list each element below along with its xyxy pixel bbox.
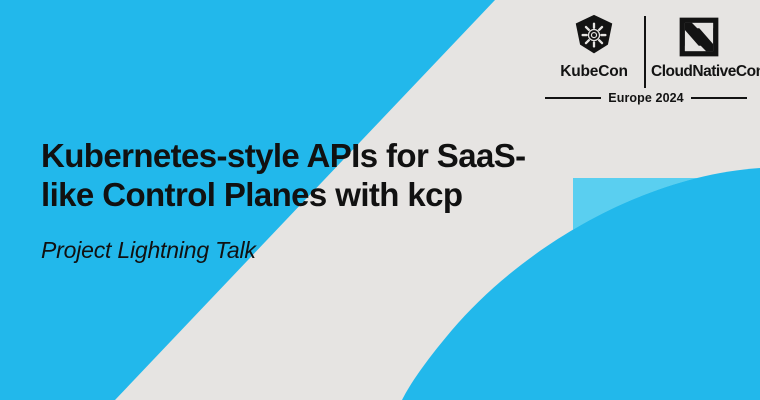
presentation-slide: KubeCon CloudNativeCon Europe 20 (0, 0, 760, 400)
edition-rule-right (691, 97, 747, 99)
kubecon-logo-block: KubeCon (549, 12, 639, 82)
kubernetes-helm-logo-icon (549, 12, 639, 62)
slide-title: Kubernetes-style APIs for SaaS-like Cont… (41, 136, 571, 214)
slide-text-block: Kubernetes-style APIs for SaaS-like Cont… (41, 136, 571, 264)
cloudnativecon-label: CloudNativeCon (651, 62, 747, 82)
conference-logo-lockup: KubeCon CloudNativeCon Europe 20 (545, 12, 747, 110)
kubecon-label: KubeCon (549, 62, 639, 82)
edition-row: Europe 2024 (545, 91, 747, 105)
edition-label: Europe 2024 (608, 91, 683, 105)
edition-rule-left (545, 97, 601, 99)
cncf-square-logo-icon (651, 12, 747, 62)
slide-subtitle: Project Lightning Talk (41, 214, 571, 264)
cloudnativecon-logo-block: CloudNativeCon (651, 12, 747, 82)
vertical-divider-icon (644, 16, 646, 88)
logo-row: KubeCon CloudNativeCon (545, 12, 747, 90)
